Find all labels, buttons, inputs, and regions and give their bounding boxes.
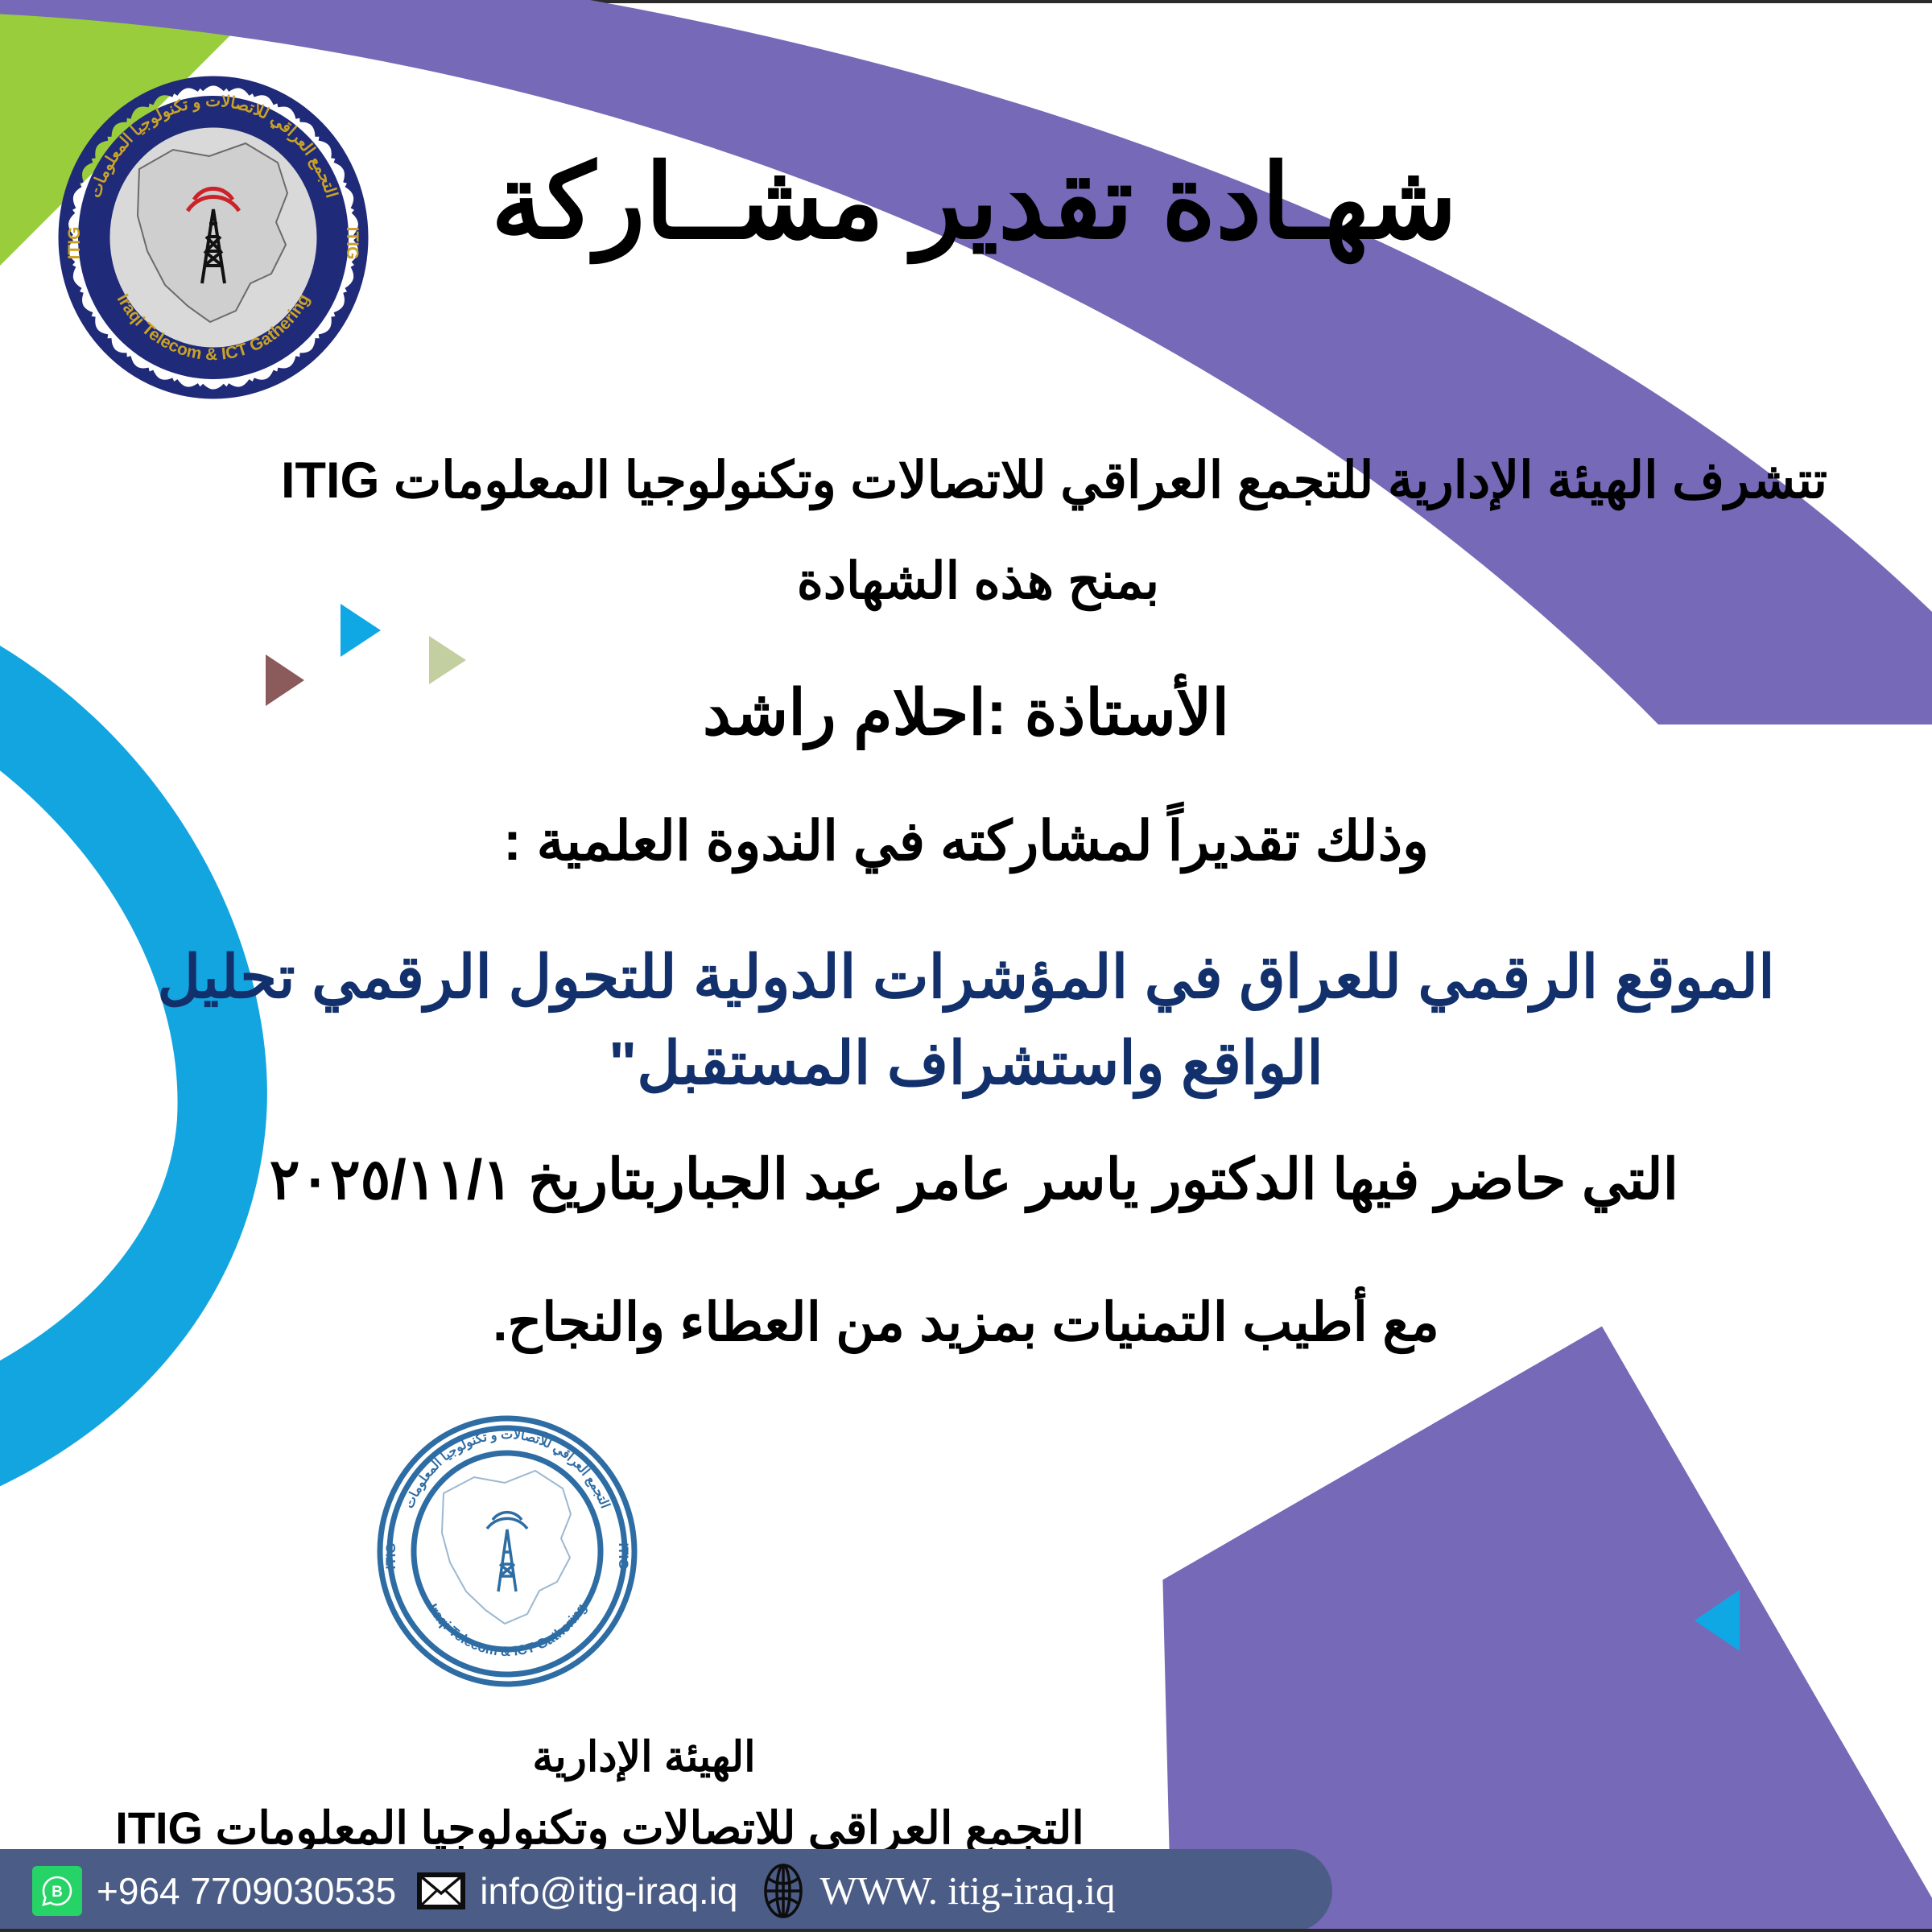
website-label: WWW. itig-iraq.iq xyxy=(820,1868,1116,1913)
certificate-title: شهـادة تقدير مشــاركة xyxy=(386,141,1562,265)
closing-wishes: مع أطيب التمنيات بمزيد من العطاء والنجاح… xyxy=(242,1288,1690,1357)
phone-number-label: +964 7709030535 xyxy=(97,1869,396,1913)
triangle-cyan-bottom-right-icon xyxy=(1695,1590,1740,1651)
intro-line-1: تتشرف الهيئة الإدارية للتجمع العراقي للا… xyxy=(80,447,1876,515)
intro-line-2: بمنح هذه الشهادة xyxy=(80,547,1876,616)
svg-text:ITIG: ITIG xyxy=(383,1542,398,1569)
contact-website[interactable]: WWW. itig-iraq.iq xyxy=(753,1863,1116,1919)
participation-reason: وذلك تقديراً لمشاركته في الندوة العلمية … xyxy=(242,805,1690,879)
logo-acronym-left: ITIG xyxy=(65,227,84,260)
whatsapp-icon: B xyxy=(32,1866,82,1916)
seminar-title: الموقع الرقمي للعراق في المؤشرات الدولية… xyxy=(145,934,1787,1107)
itig-logo-bottom: التجمع العراقي للاتصالات و تكنولوجيا الم… xyxy=(366,1413,648,1690)
itig-logo-top: التجمع العراقي للاتصالات و تكنولوجيا الم… xyxy=(44,72,382,402)
svg-text:ITIG: ITIG xyxy=(616,1542,631,1569)
footer-contact-bar: B +964 7709030535 info@itig-iraq.iq xyxy=(0,1849,1332,1932)
envelope-icon xyxy=(417,1872,465,1909)
contact-email[interactable]: info@itig-iraq.iq xyxy=(411,1869,737,1913)
honoree-name: الأستاذة :احلام راشد xyxy=(242,672,1690,753)
lecturer-and-date: التي حاضر فيها الدكتور ياسر عامر عبد الج… xyxy=(80,1143,1868,1216)
certificate-page: التجمع العراقي للاتصالات و تكنولوجيا الم… xyxy=(0,0,1932,1932)
globe-icon xyxy=(761,1863,806,1919)
logo-acronym-right: ITIG xyxy=(343,227,361,260)
top-border-line xyxy=(0,0,1932,3)
email-label: info@itig-iraq.iq xyxy=(480,1869,737,1913)
contact-phone[interactable]: B +964 7709030535 xyxy=(14,1866,396,1916)
svg-text:B: B xyxy=(52,1884,63,1901)
signature-role: الهيئة الإدارية xyxy=(201,1731,1087,1785)
